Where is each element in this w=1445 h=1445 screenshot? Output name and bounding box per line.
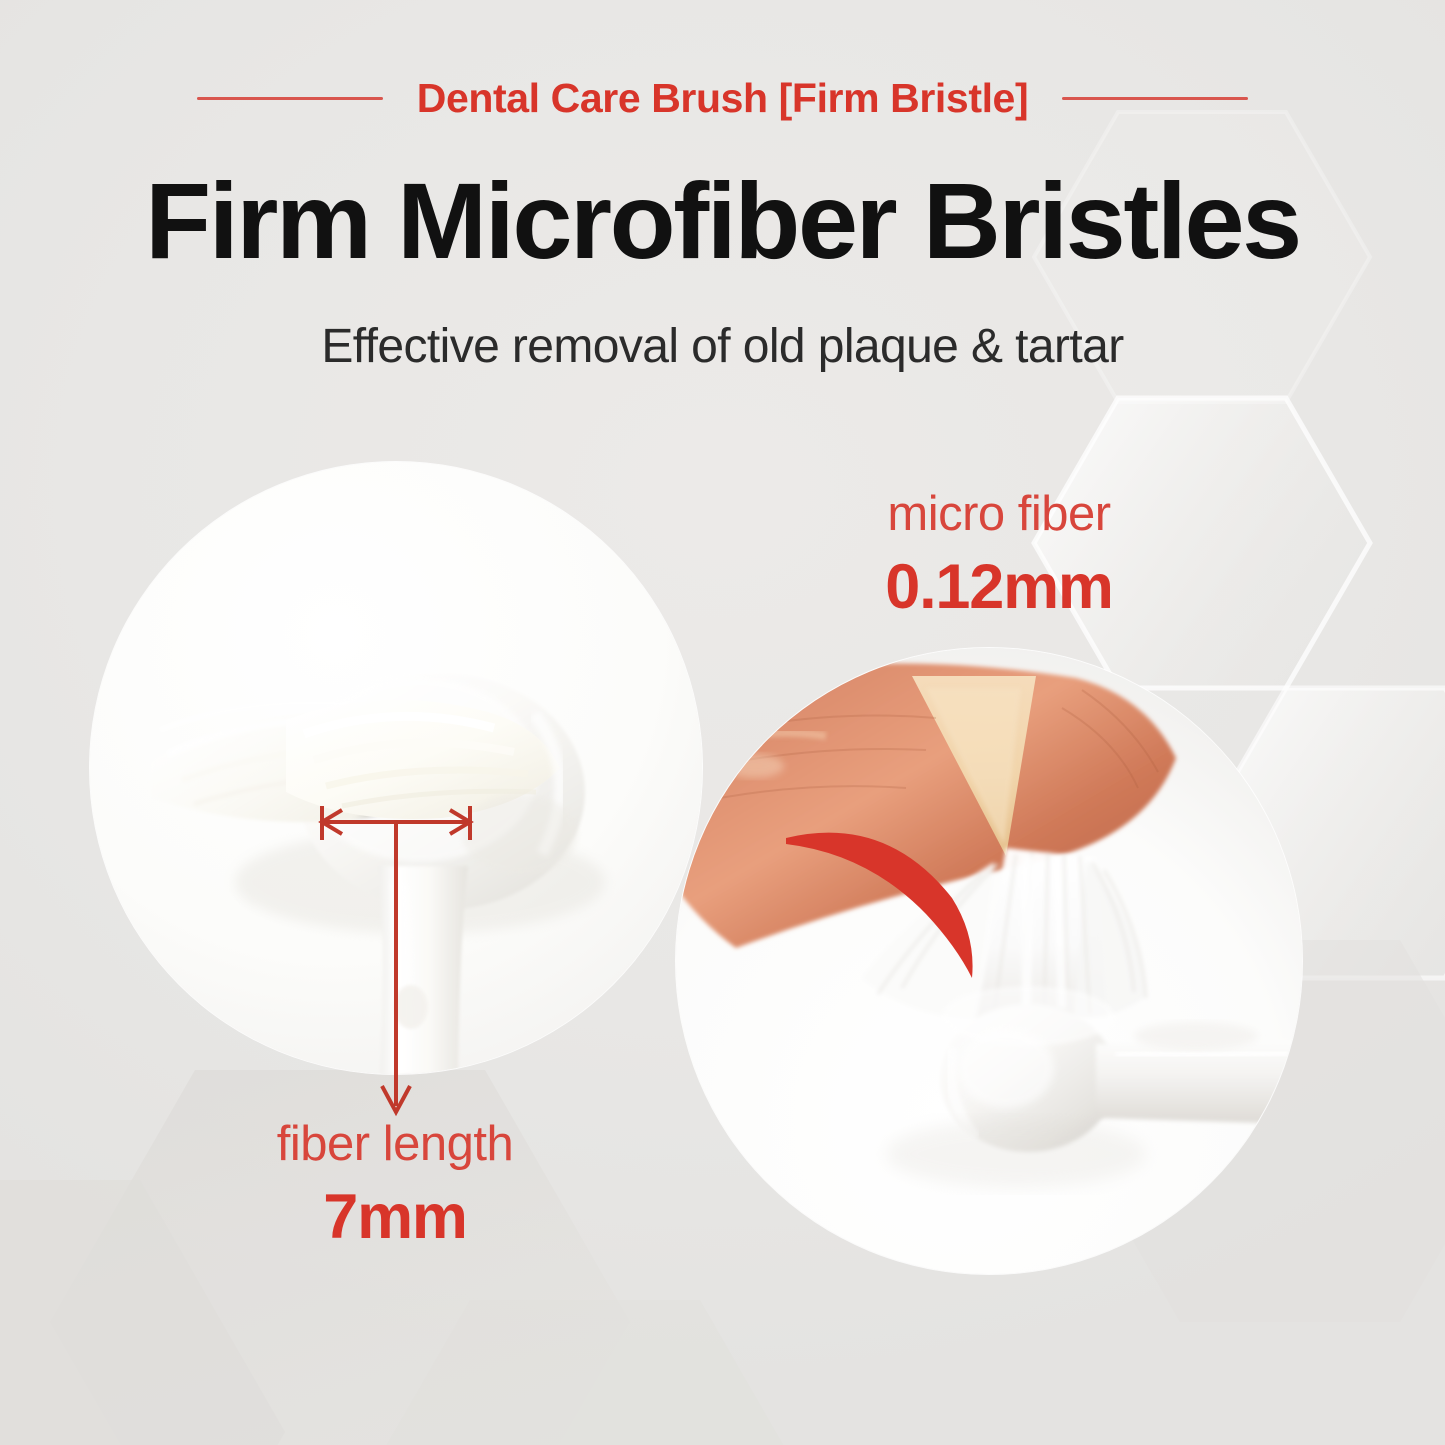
callout-fiber-length: fiber length 7mm: [170, 1118, 620, 1251]
page-subtitle: Effective removal of old plaque & tartar: [0, 318, 1445, 376]
eyebrow-row: Dental Care Brush [Firm Bristle]: [0, 68, 1445, 128]
product-infographic: Dental Care Brush [Firm Bristle] Firm Mi…: [0, 0, 1445, 1445]
page-title: Firm Microfiber Bristles: [0, 164, 1445, 277]
callout-fiber-length-lead: fiber length: [170, 1118, 620, 1171]
photo-fingertip-bristle-closeup: [676, 648, 1302, 1274]
callout-micro-fiber: micro fiber 0.12mm: [774, 488, 1224, 621]
callout-micro-fiber-lead: micro fiber: [774, 488, 1224, 541]
callout-fiber-length-value: 7mm: [170, 1183, 620, 1251]
eyebrow-label: Dental Care Brush [Firm Bristle]: [417, 78, 1028, 119]
photo-brush-head-closeup: [90, 462, 702, 1074]
eyebrow-rule-left: [197, 97, 383, 100]
brush-handle-neck: [378, 866, 468, 1074]
eyebrow-rule-right: [1062, 97, 1248, 100]
callout-micro-fiber-value: 0.12mm: [774, 553, 1224, 621]
